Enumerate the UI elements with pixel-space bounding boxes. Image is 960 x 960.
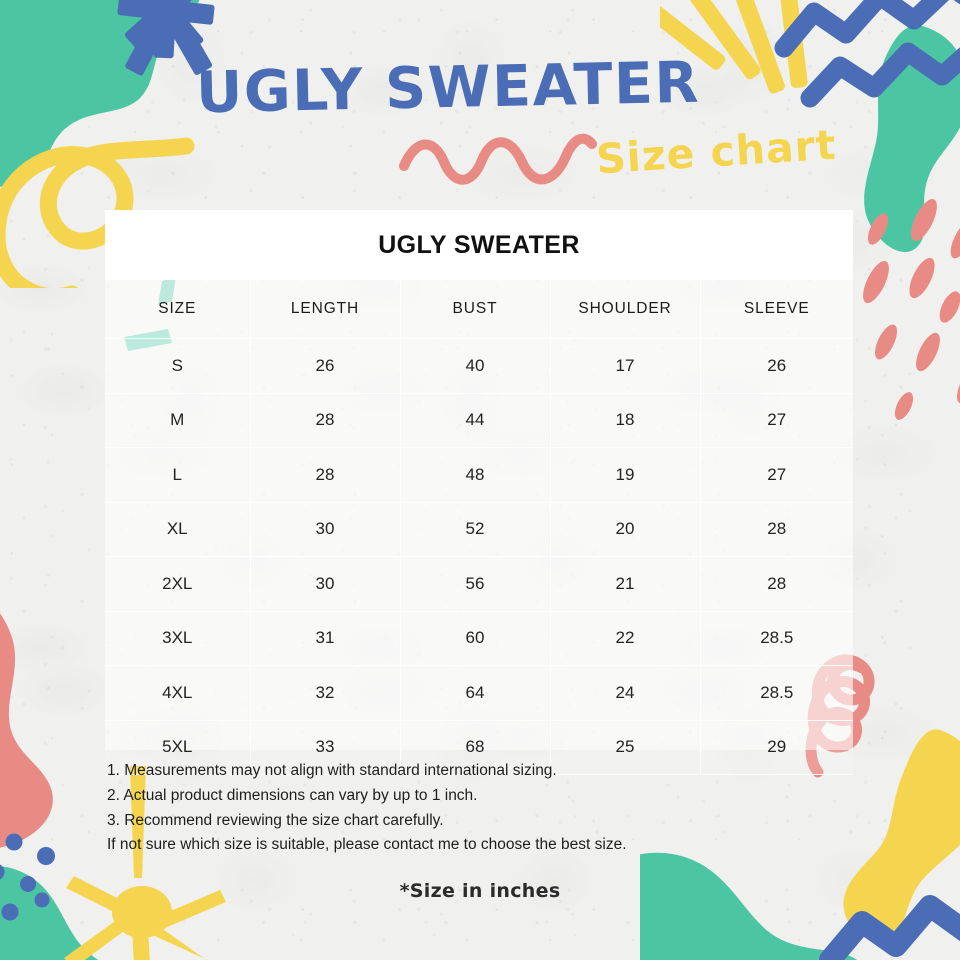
blue-zigzag-bottom-right	[830, 892, 960, 960]
table-row: M 28 44 18 27	[105, 393, 853, 448]
cell-bust: 40	[400, 339, 550, 394]
cell-size: 3XL	[105, 611, 250, 666]
table-row: 2XL 30 56 21 28	[105, 557, 853, 612]
table-row: 4XL 32 64 24 28.5	[105, 666, 853, 721]
cell-bust: 52	[400, 502, 550, 557]
cell-sleeve: 28	[700, 557, 853, 612]
column-header-shoulder: SHOULDER	[550, 280, 700, 339]
cell-sleeve: 27	[700, 448, 853, 503]
cell-bust: 56	[400, 557, 550, 612]
note-item: If not sure which size is suitable, plea…	[107, 836, 867, 854]
cell-size: S	[105, 339, 250, 394]
headline-subtitle: Size chart	[595, 121, 838, 184]
blue-dots-bottom-left	[0, 818, 55, 921]
teal-blob-bottom-right	[640, 853, 862, 960]
column-header-bust: BUST	[400, 280, 550, 339]
cell-sleeve: 28	[700, 502, 853, 557]
cell-shoulder: 20	[550, 502, 700, 557]
cell-size: 4XL	[105, 666, 250, 721]
column-header-size: SIZE	[105, 280, 250, 339]
note-item: 1. Measurements may not align with stand…	[107, 762, 867, 780]
cell-size: 2XL	[105, 557, 250, 612]
size-chart-poster: UGLY SWEATER Size chart UGLY SWEATER SIZ…	[0, 0, 960, 960]
note-item: 2. Actual product dimensions can vary by…	[107, 787, 867, 805]
salmon-dashes-top-right	[858, 195, 960, 422]
cell-shoulder: 24	[550, 666, 700, 721]
cell-length: 28	[250, 393, 400, 448]
cell-size: M	[105, 393, 250, 448]
salmon-squiggle-headline	[398, 130, 598, 190]
notes-list: 1. Measurements may not align with stand…	[107, 762, 867, 861]
cell-sleeve: 28.5	[700, 611, 853, 666]
cell-bust: 48	[400, 448, 550, 503]
cell-shoulder: 19	[550, 448, 700, 503]
size-chart-card: UGLY SWEATER SIZE LENGTH BUST SHOULDER S…	[105, 210, 853, 750]
cell-length: 28	[250, 448, 400, 503]
blue-zigzag-top-right	[784, 0, 960, 48]
cell-length: 30	[250, 557, 400, 612]
table-header-row: SIZE LENGTH BUST SHOULDER SLEEVE	[105, 280, 853, 339]
table-row: L 28 48 19 27	[105, 448, 853, 503]
cell-sleeve: 27	[700, 393, 853, 448]
column-header-length: LENGTH	[250, 280, 400, 339]
table-row: S 26 40 17 26	[105, 339, 853, 394]
cell-sleeve: 26	[700, 339, 853, 394]
cell-sleeve: 28.5	[700, 666, 853, 721]
cell-size: L	[105, 448, 250, 503]
cell-length: 31	[250, 611, 400, 666]
cell-bust: 64	[400, 666, 550, 721]
headline-title: UGLY SWEATER	[195, 50, 700, 127]
note-item: 3. Recommend reviewing the size chart ca…	[107, 812, 867, 830]
footnote-size-in-inches: *Size in inches	[0, 880, 960, 902]
cell-shoulder: 22	[550, 611, 700, 666]
cell-size: XL	[105, 502, 250, 557]
cell-length: 26	[250, 339, 400, 394]
cell-shoulder: 17	[550, 339, 700, 394]
card-header: UGLY SWEATER	[105, 210, 853, 280]
cell-bust: 44	[400, 393, 550, 448]
table-row: XL 30 52 20 28	[105, 502, 853, 557]
table-row: 3XL 31 60 22 28.5	[105, 611, 853, 666]
blue-zigzag-2-top-right	[810, 44, 960, 98]
cell-length: 32	[250, 666, 400, 721]
size-table: SIZE LENGTH BUST SHOULDER SLEEVE S 26 40…	[105, 280, 853, 775]
cell-shoulder: 18	[550, 393, 700, 448]
cell-length: 30	[250, 502, 400, 557]
teal-blob-top-right	[864, 25, 960, 252]
card-title: UGLY SWEATER	[378, 231, 580, 260]
cell-bust: 60	[400, 611, 550, 666]
column-header-sleeve: SLEEVE	[700, 280, 853, 339]
teal-blob-top-left	[0, 0, 206, 187]
salmon-wave-bottom-left	[0, 579, 53, 849]
cell-shoulder: 21	[550, 557, 700, 612]
